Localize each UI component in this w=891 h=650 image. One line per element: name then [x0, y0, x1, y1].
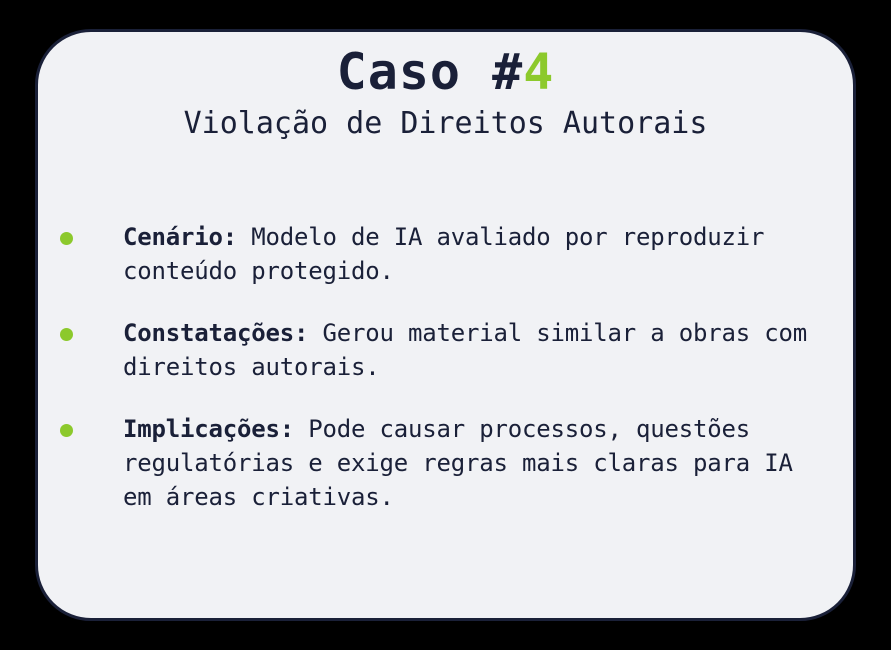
- bullet-dot-icon: [60, 232, 73, 245]
- card-content: Caso #4 Violação de Direitos Autorais Ce…: [38, 32, 853, 618]
- title-prefix: Caso #: [337, 43, 524, 101]
- list-item-text: Cenário: Modelo de IA avaliado por repro…: [123, 223, 764, 285]
- page-title: Caso #4: [38, 42, 853, 102]
- list-item-text: Implicações: Pode causar processos, ques…: [123, 415, 793, 511]
- bullet-dot-icon: [60, 328, 73, 341]
- slide-stage: Caso #4 Violação de Direitos Autorais Ce…: [0, 0, 891, 650]
- page-subtitle: Violação de Direitos Autorais: [38, 104, 853, 144]
- case-card: Caso #4 Violação de Direitos Autorais Ce…: [35, 29, 856, 621]
- bullet-dot-icon: [60, 424, 73, 437]
- list-item-label: Implicações:: [123, 415, 294, 443]
- list-item: Constatações: Gerou material similar a o…: [60, 316, 825, 384]
- title-number: 4: [523, 43, 554, 101]
- list-item-label: Cenário:: [123, 223, 237, 251]
- list-item-text: Constatações: Gerou material similar a o…: [123, 319, 807, 381]
- list-item: Implicações: Pode causar processos, ques…: [60, 412, 825, 514]
- list-item: Cenário: Modelo de IA avaliado por repro…: [60, 220, 825, 288]
- list-item-label: Constatações:: [123, 319, 308, 347]
- card-header: Caso #4 Violação de Direitos Autorais: [38, 42, 853, 144]
- bullet-list: Cenário: Modelo de IA avaliado por repro…: [60, 220, 825, 514]
